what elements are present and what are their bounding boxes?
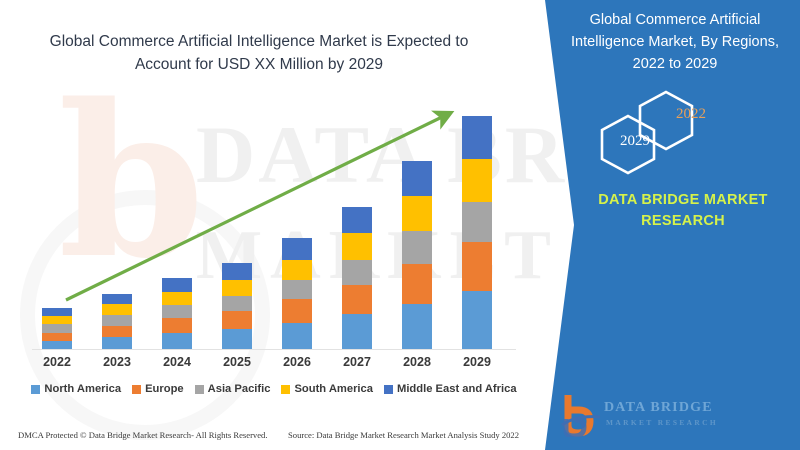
- bar-segment: [282, 260, 312, 280]
- bar-segment: [102, 294, 132, 305]
- hexagon-label-2029: 2029: [620, 133, 650, 150]
- bar-segment: [462, 202, 492, 242]
- bar-segment: [282, 280, 312, 300]
- bar-segment: [222, 311, 252, 329]
- bar-2024: [162, 278, 192, 349]
- bar-segment: [162, 305, 192, 318]
- bar-segment: [342, 285, 372, 315]
- bar-2025: [222, 263, 252, 349]
- bar-segment: [342, 314, 372, 349]
- x-label-2029: 2029: [447, 355, 507, 369]
- x-label-2022: 2022: [27, 355, 87, 369]
- bar-segment: [462, 159, 492, 202]
- legend-item-north-america[interactable]: North America: [31, 383, 121, 395]
- legend-swatch-icon: [31, 385, 40, 394]
- chart-legend: North AmericaEuropeAsia PacificSouth Ame…: [24, 383, 524, 395]
- x-label-2026: 2026: [267, 355, 327, 369]
- legend-label: Middle East and Africa: [397, 383, 517, 395]
- bar-segment: [402, 196, 432, 231]
- bar-segment: [402, 231, 432, 264]
- bar-segment: [102, 315, 132, 326]
- bar-segment: [42, 316, 72, 324]
- legend-label: South America: [294, 383, 373, 395]
- bar-segment: [282, 238, 312, 259]
- bar-segment: [282, 323, 312, 349]
- legend-label: Europe: [145, 383, 184, 395]
- logo-name: DATA BRIDGE: [604, 400, 713, 416]
- bar-segment: [462, 116, 492, 159]
- footer: DMCA Protected © Data Bridge Market Rese…: [0, 428, 540, 450]
- bar-segment: [222, 263, 252, 280]
- bar-segment: [462, 242, 492, 292]
- legend-swatch-icon: [195, 385, 204, 394]
- company-logo: DATA BRIDGE MARKET RESEARCH: [560, 395, 760, 441]
- bar-2022: [42, 308, 72, 349]
- hexagon-icon: [588, 88, 758, 183]
- legend-swatch-icon: [384, 385, 393, 394]
- bar-segment: [462, 291, 492, 349]
- bar-2029: [462, 116, 492, 349]
- x-label-2028: 2028: [387, 355, 447, 369]
- bar-2026: [282, 238, 312, 349]
- x-label-2024: 2024: [147, 355, 207, 369]
- x-axis-line: [32, 349, 516, 350]
- hexagon-badges: 2029 2022: [588, 88, 758, 183]
- legend-label: Asia Pacific: [208, 383, 271, 395]
- brand-line1: DATA BRIDGE MARKET: [588, 190, 778, 211]
- bar-segment: [222, 280, 252, 297]
- bar-segment: [42, 341, 72, 349]
- bar-segment: [342, 207, 372, 233]
- bar-segment: [162, 318, 192, 333]
- panel-title: Global Commerce Artificial Intelligence …: [560, 10, 790, 75]
- legend-label: North America: [44, 383, 121, 395]
- bar-segment: [42, 333, 72, 341]
- x-label-2027: 2027: [327, 355, 387, 369]
- bar-segment: [222, 329, 252, 349]
- bar-segment: [162, 278, 192, 292]
- logo-subtitle: MARKET RESEARCH: [606, 418, 718, 427]
- bridge-logo-icon: [560, 395, 604, 437]
- legend-swatch-icon: [132, 385, 141, 394]
- legend-swatch-icon: [281, 385, 290, 394]
- legend-item-europe[interactable]: Europe: [132, 383, 184, 395]
- footer-source: Source: Data Bridge Market Research Mark…: [288, 430, 519, 440]
- legend-item-south-america[interactable]: South America: [281, 383, 373, 395]
- bar-segment: [342, 233, 372, 259]
- bar-segment: [402, 264, 432, 304]
- infographic-root: b DATA BRIDGE MARKET RESEARCH Global Com…: [0, 0, 800, 450]
- bar-segment: [102, 304, 132, 315]
- bar-segment: [42, 308, 72, 316]
- legend-item-asia-pacific[interactable]: Asia Pacific: [195, 383, 271, 395]
- x-axis-labels: 20222023202420252026202720282029: [24, 355, 524, 375]
- footer-copyright: DMCA Protected © Data Bridge Market Rese…: [18, 430, 268, 440]
- bar-segment: [282, 299, 312, 322]
- bar-2023: [102, 294, 132, 349]
- bar-segment: [402, 304, 432, 349]
- bar-segment: [102, 337, 132, 349]
- chart-title: Global Commerce Artificial Intelligence …: [24, 30, 494, 77]
- bar-segment: [102, 326, 132, 338]
- x-label-2025: 2025: [207, 355, 267, 369]
- brand-line2: RESEARCH: [588, 211, 778, 232]
- x-label-2023: 2023: [87, 355, 147, 369]
- bar-2028: [402, 161, 432, 349]
- bar-segment: [42, 324, 72, 332]
- bar-segment: [162, 333, 192, 349]
- bar-segment: [162, 292, 192, 305]
- hexagon-label-2022: 2022: [676, 106, 706, 123]
- legend-item-middle-east-and-africa[interactable]: Middle East and Africa: [384, 383, 517, 395]
- bar-segment: [402, 161, 432, 196]
- stacked-bar-chart: [24, 95, 524, 350]
- brand-name: DATA BRIDGE MARKET RESEARCH: [588, 190, 778, 232]
- bar-segment: [342, 260, 372, 285]
- bar-2027: [342, 207, 372, 349]
- bar-segment: [222, 296, 252, 311]
